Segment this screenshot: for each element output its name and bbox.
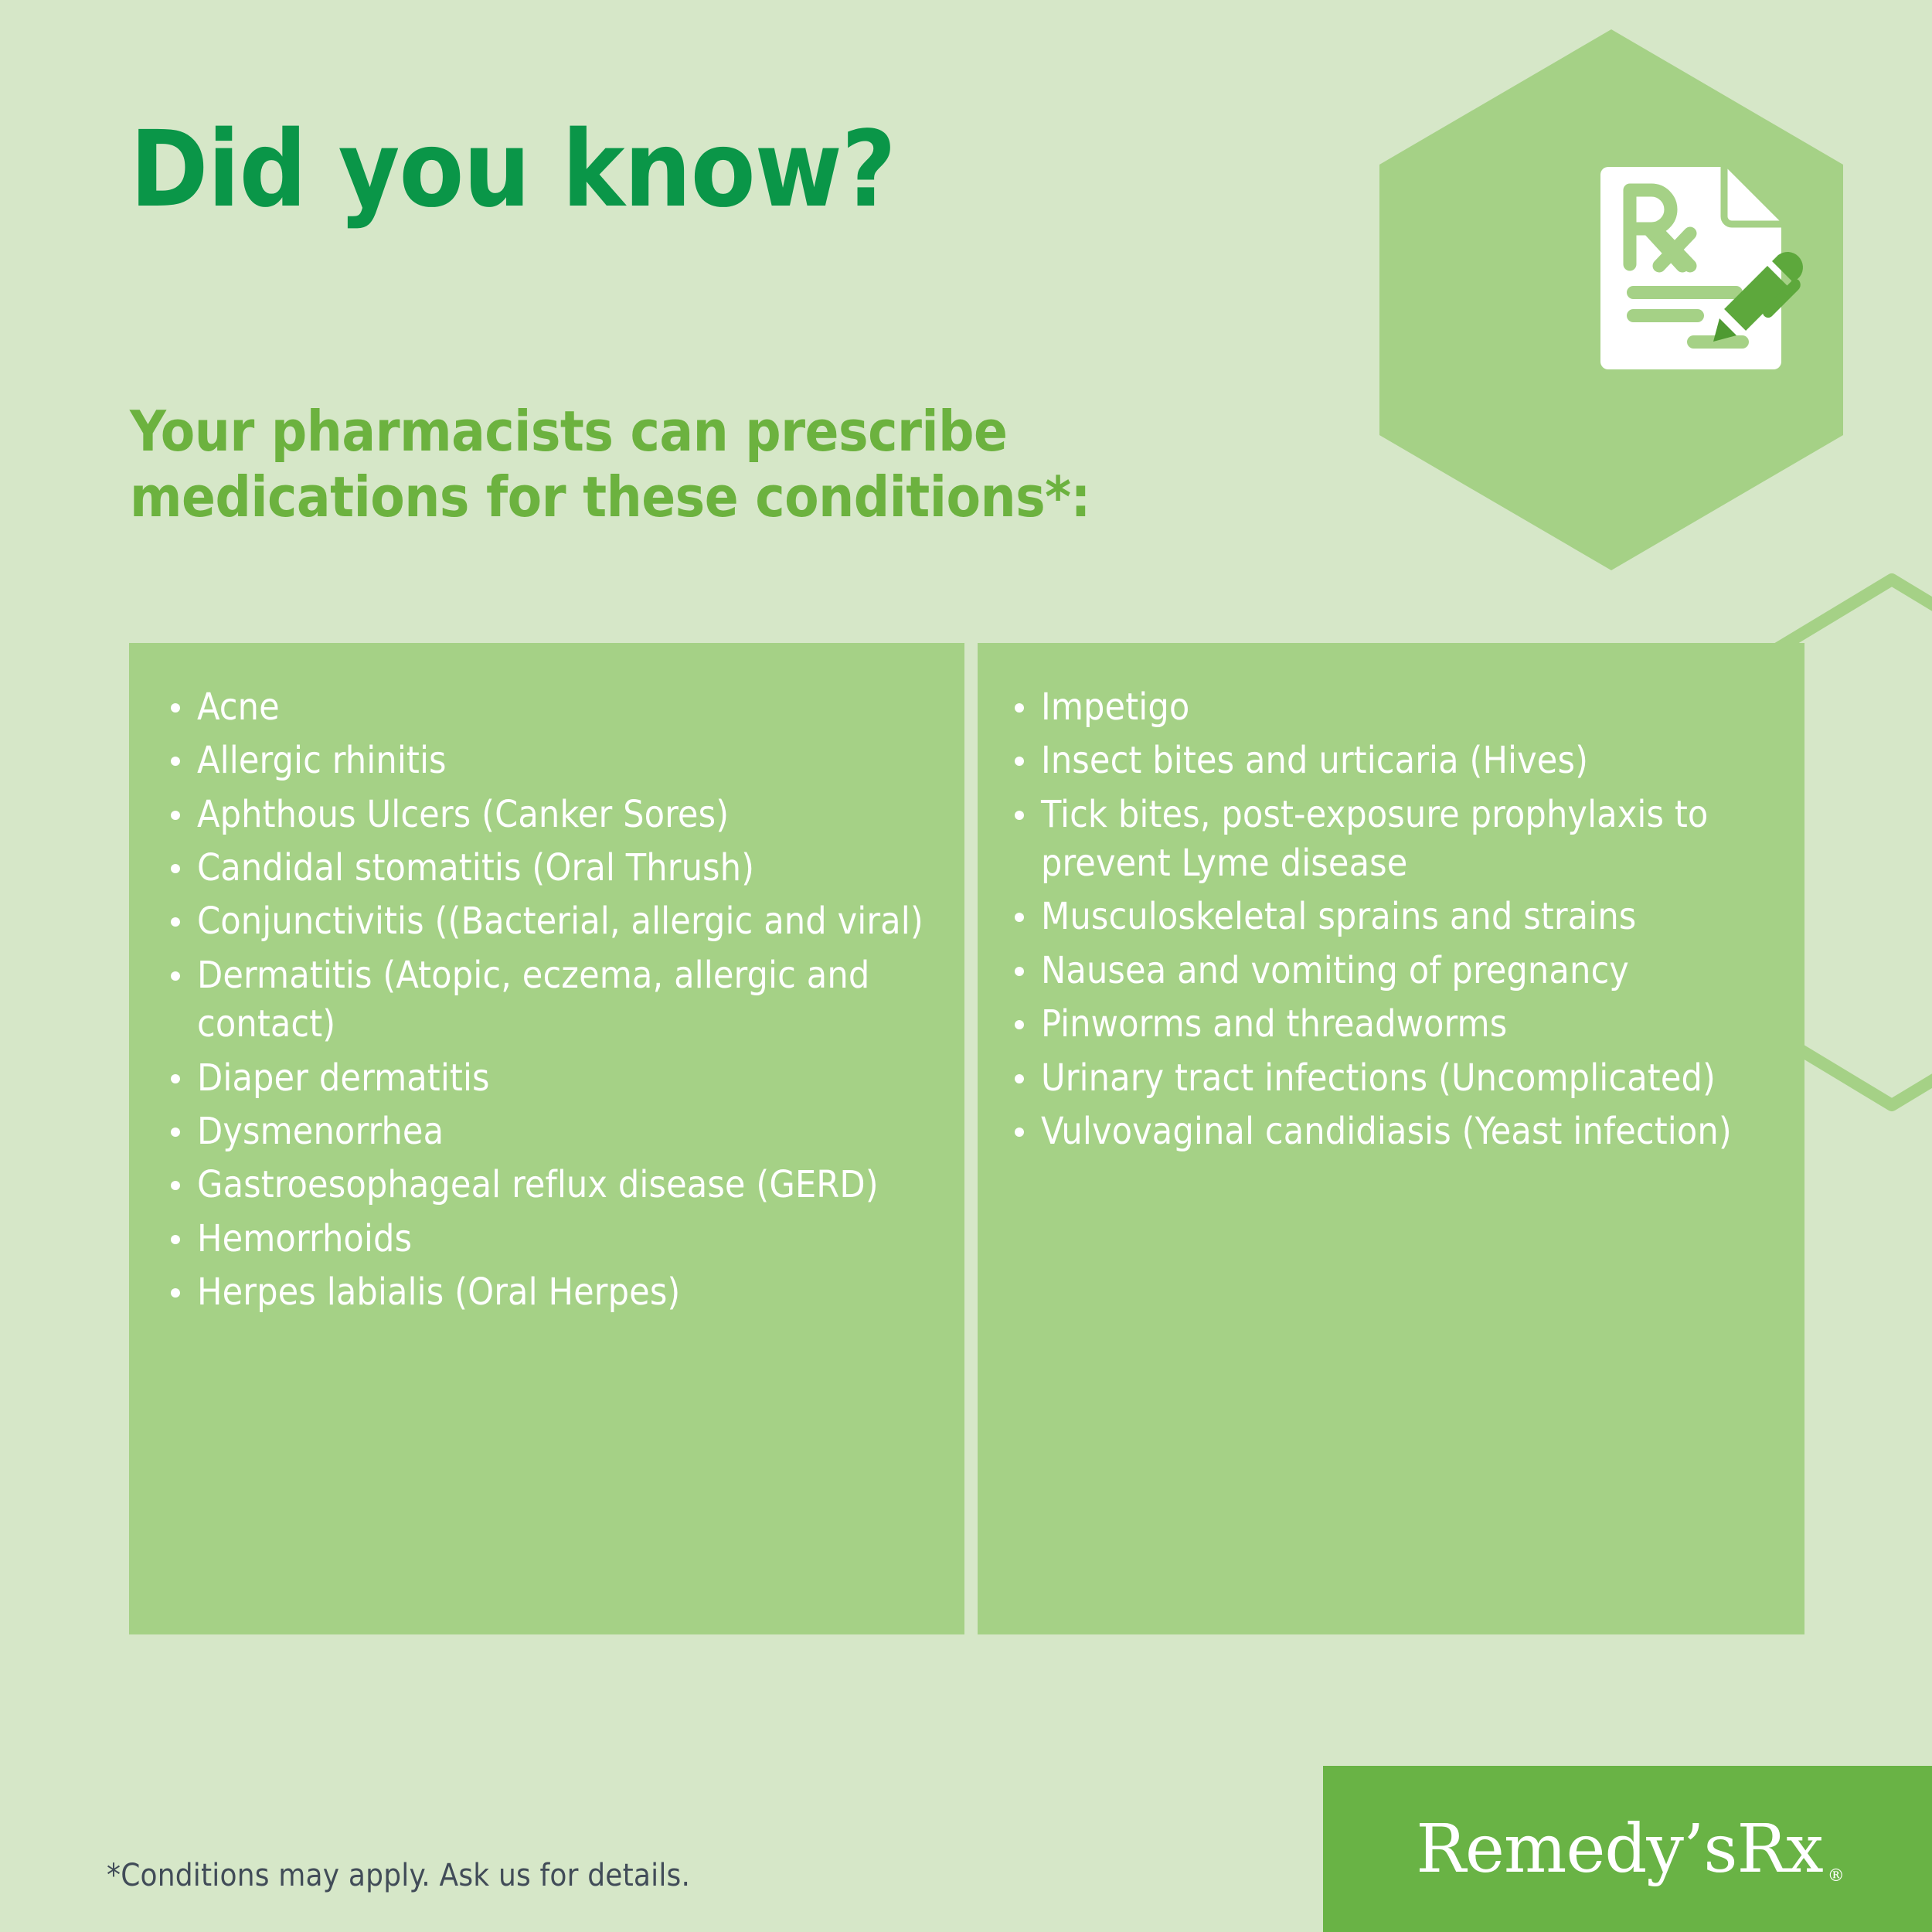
brand-logo-wordmark: Remedy’sRx®	[1416, 1811, 1838, 1888]
list-item: Vulvovaginal candidiasis (Yeast infectio…	[1009, 1107, 1774, 1156]
footnote-text: *Conditions may apply. Ask us for detail…	[107, 1858, 690, 1893]
brand-logo-block: Remedy’sRx®	[1323, 1766, 1932, 1932]
list-item: Dermatitis (Atopic, eczema, allergic and…	[160, 951, 934, 1049]
conditions-panels: Acne Allergic rhinitis Aphthous Ulcers (…	[129, 643, 1804, 1634]
list-item: Conjunctivitis ((Bacterial, allergic and…	[160, 897, 934, 946]
list-item: Impetigo	[1009, 683, 1774, 732]
list-item: Tick bites, post-exposure prophylaxis to…	[1009, 791, 1774, 889]
list-item: Dysmenorrhea	[160, 1107, 934, 1156]
conditions-list-right: Impetigo Insect bites and urticaria (Hiv…	[1009, 683, 1774, 1156]
conditions-panel-left: Acne Allergic rhinitis Aphthous Ulcers (…	[129, 643, 964, 1634]
list-item: Urinary tract infections (Uncomplicated)	[1009, 1054, 1774, 1103]
page-title: Did you know?	[130, 117, 896, 223]
list-item: Hemorrhoids	[160, 1215, 934, 1264]
conditions-panel-right: Impetigo Insect bites and urticaria (Hiv…	[978, 643, 1804, 1634]
list-item: Acne	[160, 683, 934, 732]
list-item: Musculoskeletal sprains and strains	[1009, 893, 1774, 941]
registered-trademark-icon: ®	[1828, 1866, 1844, 1886]
list-item: Gastroesophageal reflux disease (GERD)	[160, 1161, 934, 1209]
list-item: Diaper dermatitis	[160, 1054, 934, 1103]
conditions-list-left: Acne Allergic rhinitis Aphthous Ulcers (…	[160, 683, 934, 1317]
page-subtitle: Your pharmacists can prescribe medicatio…	[130, 399, 1289, 530]
list-item: Herpes labialis (Oral Herpes)	[160, 1268, 934, 1317]
list-item: Candidal stomatitis (Oral Thrush)	[160, 844, 934, 893]
prescription-document-pen-icon	[1596, 164, 1812, 372]
brand-logo-name: Remedy’sRx	[1416, 1811, 1822, 1888]
list-item: Nausea and vomiting of pregnancy	[1009, 947, 1774, 995]
list-item: Pinworms and threadworms	[1009, 1000, 1774, 1049]
list-item: Aphthous Ulcers (Canker Sores)	[160, 791, 934, 839]
list-item: Insect bites and urticaria (Hives)	[1009, 736, 1774, 785]
list-item: Allergic rhinitis	[160, 736, 934, 785]
